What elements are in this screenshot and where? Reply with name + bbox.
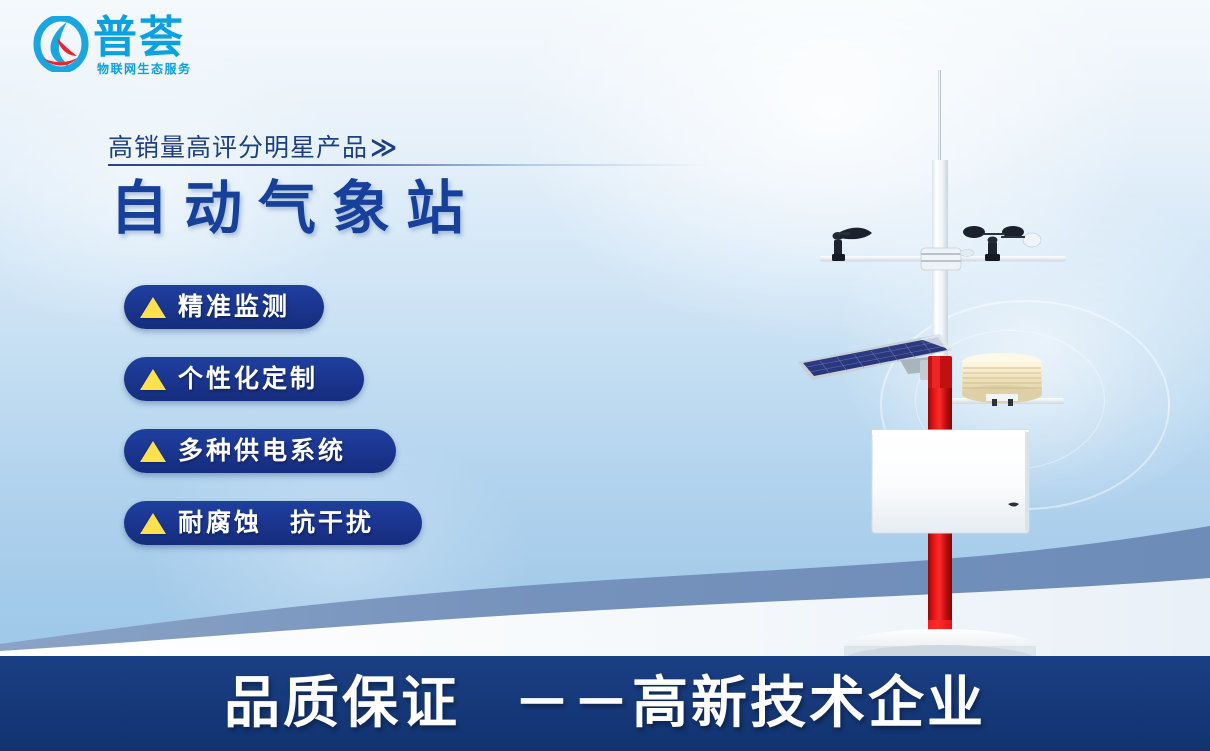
eyebrow-text: 高销量高评分明星产品≫ bbox=[108, 128, 398, 164]
yellow-triangle-icon bbox=[140, 369, 166, 390]
feature-label-3: 耐腐蚀 抗干扰 bbox=[178, 508, 374, 538]
feature-pill-2[interactable]: 多种供电系统 bbox=[124, 429, 396, 473]
feature-pill-3[interactable]: 耐腐蚀 抗干扰 bbox=[124, 501, 422, 545]
yellow-triangle-icon bbox=[140, 297, 166, 318]
footer-band: 品质保证－－高新技术企业 bbox=[0, 656, 1210, 751]
feature-pill-1[interactable]: 个性化定制 bbox=[124, 357, 364, 401]
pu-yun-circle-swoosh-logo-icon bbox=[33, 16, 89, 72]
anemometer-cups-sensor bbox=[963, 226, 1041, 261]
brand-logo[interactable]: 普荟 物联网生态服务 bbox=[33, 14, 243, 82]
yellow-triangle-icon bbox=[140, 441, 166, 462]
feature-label-0: 精准监测 bbox=[178, 292, 290, 322]
feature-pill-0[interactable]: 精准监测 bbox=[124, 285, 324, 329]
control-cabinet bbox=[872, 430, 1029, 533]
footer-text: 品质保证－－高新技术企业 bbox=[224, 671, 986, 737]
feature-label-2: 多种供电系统 bbox=[178, 436, 346, 466]
arm-collar bbox=[921, 248, 961, 270]
eyebrow-divider bbox=[108, 164, 708, 166]
feature-label-1: 个性化定制 bbox=[178, 364, 318, 394]
brand-name: 普荟 bbox=[93, 12, 185, 64]
chevron-right-icon: ≫ bbox=[370, 133, 398, 163]
yellow-triangle-icon bbox=[140, 513, 166, 534]
footer-right-text: －－高新技术企业 bbox=[514, 671, 986, 736]
radiation-shield bbox=[962, 353, 1042, 406]
wind-vane-sensor bbox=[832, 228, 872, 261]
promo-banner: 普荟 物联网生态服务 高销量高评分明星产品≫ 自动气象站 精准监测 个性化定制 … bbox=[0, 0, 1210, 751]
page-title: 自动气象站 bbox=[110, 172, 480, 244]
eyebrow-label: 高销量高评分明星产品 bbox=[108, 133, 368, 162]
small-sensor-nub bbox=[960, 250, 974, 257]
weather-station-image bbox=[780, 60, 1110, 660]
footer-left-text: 品质保证 bbox=[224, 671, 460, 736]
brand-tagline: 物联网生态服务 bbox=[97, 62, 192, 76]
